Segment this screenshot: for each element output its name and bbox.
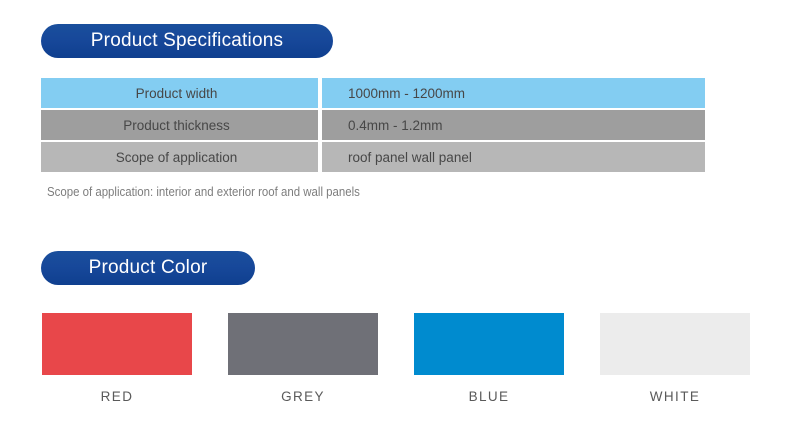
section-header-product-specifications: Product Specifications xyxy=(41,24,333,58)
spec-label-cell: Product width xyxy=(41,78,318,108)
spec-label-cell: Product thickness xyxy=(41,110,318,140)
color-label: RED xyxy=(101,389,134,404)
color-chip-blue xyxy=(414,313,564,375)
table-caption: Scope of application: interior and exter… xyxy=(47,184,360,199)
color-chip-red xyxy=(42,313,192,375)
table-row: Scope of application roof panel wall pan… xyxy=(41,142,705,172)
spec-value-cell: roof panel wall panel xyxy=(322,142,705,172)
color-label: GREY xyxy=(281,389,325,404)
swatch-item-red: RED xyxy=(42,313,192,404)
product-specifications-table: Product width 1000mm - 1200mm Product th… xyxy=(41,78,705,172)
spec-value-cell: 1000mm - 1200mm xyxy=(322,78,705,108)
section-header-label: Product Specifications xyxy=(91,30,283,52)
spec-label-cell: Scope of application xyxy=(41,142,318,172)
color-label: WHITE xyxy=(650,389,701,404)
color-label: BLUE xyxy=(469,389,510,404)
section-header-product-color: Product Color xyxy=(41,251,255,285)
section-header-label: Product Color xyxy=(89,257,208,279)
swatch-item-white: WHITE xyxy=(600,313,750,404)
swatch-item-blue: BLUE xyxy=(414,313,564,404)
spec-value-cell: 0.4mm - 1.2mm xyxy=(322,110,705,140)
color-swatch-list: RED GREY BLUE WHITE xyxy=(42,313,754,404)
table-row: Product thickness 0.4mm - 1.2mm xyxy=(41,110,705,140)
color-chip-white xyxy=(600,313,750,375)
swatch-item-grey: GREY xyxy=(228,313,378,404)
table-row: Product width 1000mm - 1200mm xyxy=(41,78,705,108)
color-chip-grey xyxy=(228,313,378,375)
